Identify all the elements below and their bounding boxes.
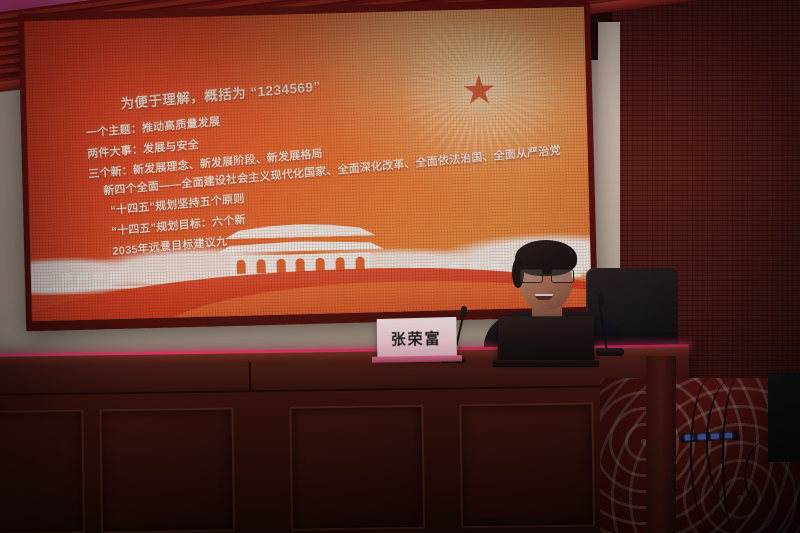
monitor-rear [768,372,800,462]
flag-icon [79,273,88,280]
desk-panel [459,402,595,528]
glasses-icon [518,269,576,282]
placard-name-text: 张荣富 [391,327,442,349]
flag-icon [63,273,72,280]
desk-panel [0,410,85,533]
podium-desk [0,347,691,533]
name-placard: 张荣富 [377,317,457,358]
flag-icon [111,272,120,279]
microphone-head-right-icon [598,294,604,306]
microphone-head-left-icon [461,306,467,317]
lecture-hall-photo: ★ 为便于理解，概括为 “1234569” 一个主题：推动高质量发展 两件大事：… [0,0,800,533]
desk-panel [99,407,235,533]
desk-seam [249,362,251,392]
gate-upper-roof [224,222,376,239]
gate-lower-roof [216,239,384,253]
desk-panel [289,405,425,531]
flag-icon [95,272,104,279]
wall-column [646,356,676,533]
laptop[interactable] [498,316,595,362]
microphone-base-right [596,348,624,356]
